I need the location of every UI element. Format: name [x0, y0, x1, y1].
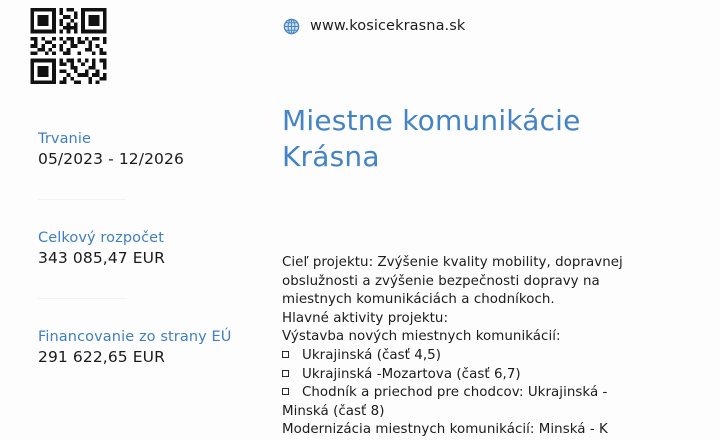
fact-eu-funding-label: Financovanie zo strany EÚ	[38, 328, 258, 347]
bullet-item: Ukrajinská (časť 4,5)	[282, 347, 632, 366]
page-title: Miestne komunikácie Krásna	[282, 103, 612, 175]
fact-duration-label: Trvanie	[38, 130, 258, 149]
fact-duration-value: 05/2023 - 12/2026	[38, 149, 258, 169]
left-info-column: Trvanie 05/2023 - 12/2026 Celkový rozpoč…	[0, 0, 270, 420]
website-url-text: www.kosicekrasna.sk	[310, 18, 465, 35]
bullet-item: Chodník a priechod pre chodcov: Ukrajins…	[282, 384, 632, 421]
globe-icon	[283, 18, 300, 35]
website-link[interactable]: www.kosicekrasna.sk	[283, 18, 465, 35]
bullet-item: Ukrajinská -Mozartova (časť 6,7)	[282, 366, 632, 385]
fact-total-budget-label: Celkový rozpočet	[38, 229, 258, 248]
project-description: Cieľ projektu: Zvýšenie kvality mobility…	[282, 254, 632, 440]
fact-eu-funding-value: 291 622,65 EUR	[38, 347, 258, 367]
square-bullet-icon	[282, 370, 289, 377]
construction-subheading: Výstavba nových miestnych komunikácií:	[282, 328, 632, 347]
fact-duration: Trvanie 05/2023 - 12/2026	[38, 130, 258, 169]
project-facts-list: Trvanie 05/2023 - 12/2026 Celkový rozpoč…	[38, 130, 258, 367]
qr-code-icon[interactable]	[30, 8, 107, 84]
modernization-line: Modernizácia miestnych komunikácií: Mins…	[282, 421, 632, 440]
square-bullet-icon	[282, 388, 289, 395]
project-goal-paragraph: Cieľ projektu: Zvýšenie kvality mobility…	[282, 254, 632, 310]
fact-eu-funding: Financovanie zo strany EÚ 291 622,65 EUR	[38, 328, 258, 367]
poster-page: Trvanie 05/2023 - 12/2026 Celkový rozpoč…	[0, 0, 720, 420]
bullet-item-text: Chodník a priechod pre chodcov: Ukrajins…	[282, 385, 607, 419]
right-content-column: www.kosicekrasna.sk Miestne komunikácie …	[270, 0, 720, 420]
activities-heading: Hlavné aktivity projektu:	[282, 310, 632, 329]
bullet-item-text: Ukrajinská -Mozartova (časť 6,7)	[302, 367, 521, 382]
bullet-item-text: Ukrajinská (časť 4,5)	[302, 348, 441, 363]
square-bullet-icon	[282, 351, 289, 358]
fact-divider-2	[38, 298, 126, 299]
fact-total-budget-value: 343 085,47 EUR	[38, 248, 258, 268]
fact-divider-1	[38, 199, 126, 200]
fact-total-budget: Celkový rozpočet 343 085,47 EUR	[38, 229, 258, 268]
